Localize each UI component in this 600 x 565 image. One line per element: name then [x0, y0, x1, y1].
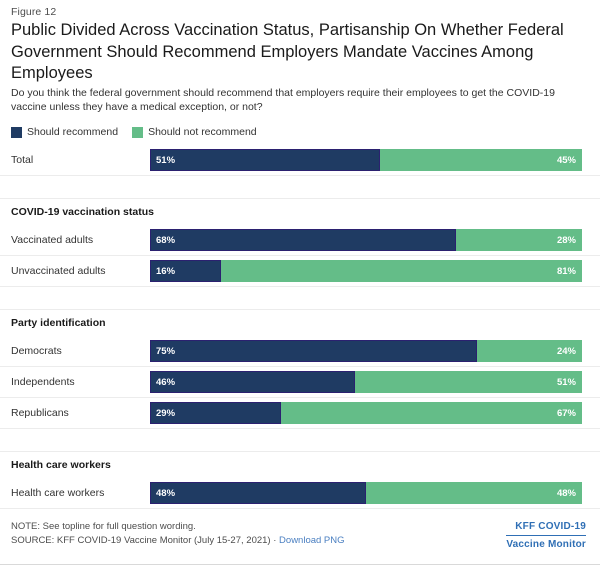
legend-item-should-recommend[interactable]: Should recommend: [11, 127, 118, 138]
section-header: Health care workers: [0, 452, 600, 478]
stacked-bar: 75%24%: [150, 340, 582, 362]
section-spacer: [0, 176, 600, 198]
brand-logo[interactable]: KFF COVID-19 Vaccine Monitor: [506, 520, 586, 552]
figure-container: Figure 12 Public Divided Across Vaccinat…: [0, 0, 600, 565]
bar-segment-should-recommend[interactable]: 16%: [150, 260, 221, 282]
bar-segment-should-recommend[interactable]: 48%: [150, 482, 366, 504]
bar-segment-should-recommend[interactable]: 75%: [150, 340, 477, 362]
chart-row: Democrats75%24%: [0, 336, 600, 367]
bar-segment-should-not-recommend[interactable]: 45%: [380, 149, 583, 171]
chart-row-label: Democrats: [11, 345, 62, 357]
footnote-note: NOTE: See topline for full question word…: [11, 520, 345, 534]
chart-legend: Should recommend Should not recommend: [11, 127, 257, 138]
section-header-label: Party identification: [11, 317, 106, 329]
chart-row: Independents46%51%: [0, 367, 600, 398]
brand-line-2: Vaccine Monitor: [506, 536, 586, 552]
chart-row: Total51%45%: [0, 145, 600, 176]
section-spacer: [0, 429, 600, 451]
legend-label-should-not-recommend: Should not recommend: [148, 127, 257, 138]
section-spacer: [0, 287, 600, 309]
stacked-bar: 48%48%: [150, 482, 582, 504]
chart-row-label: Independents: [11, 376, 75, 388]
page-title: Public Divided Across Vaccination Status…: [11, 20, 586, 85]
bar-segment-should-not-recommend[interactable]: 28%: [456, 229, 582, 251]
section-header: Party identification: [0, 310, 600, 336]
bar-segment-should-not-recommend[interactable]: 24%: [477, 340, 582, 362]
bar-segment-should-recommend[interactable]: 68%: [150, 229, 456, 251]
chart-row-label: Republicans: [11, 407, 69, 419]
section-header-label: Health care workers: [11, 459, 111, 471]
legend-label-should-recommend: Should recommend: [27, 127, 118, 138]
chart-row: Unvaccinated adults16%81%: [0, 256, 600, 287]
chart-row: Health care workers48%48%: [0, 478, 600, 509]
chart-row-label: Unvaccinated adults: [11, 265, 106, 277]
section-header: COVID-19 vaccination status: [0, 199, 600, 225]
brand-line-1: KFF COVID-19: [506, 520, 586, 536]
bar-segment-should-recommend[interactable]: 29%: [150, 402, 281, 424]
stacked-bar: 16%81%: [150, 260, 582, 282]
bar-segment-should-not-recommend[interactable]: 67%: [281, 402, 582, 424]
stacked-bar: 29%67%: [150, 402, 582, 424]
chart-plot-area: Total51%45%COVID-19 vaccination statusVa…: [0, 145, 600, 509]
bar-segment-should-recommend[interactable]: 51%: [150, 149, 380, 171]
bar-segment-should-not-recommend[interactable]: 51%: [355, 371, 582, 393]
chart-row-label: Health care workers: [11, 487, 104, 499]
chart-row-label: Vaccinated adults: [11, 234, 93, 246]
stacked-bar: 46%51%: [150, 371, 582, 393]
bar-segment-should-recommend[interactable]: 46%: [150, 371, 355, 393]
download-png-link[interactable]: Download PNG: [279, 535, 344, 546]
footnote-source: SOURCE: KFF COVID-19 Vaccine Monitor (Ju…: [11, 534, 345, 548]
stacked-bar: 51%45%: [150, 149, 582, 171]
legend-swatch-icon-should-recommend: [11, 127, 22, 138]
chart-row: Vaccinated adults68%28%: [0, 225, 600, 256]
stacked-bar: 68%28%: [150, 229, 582, 251]
footnote-source-text: SOURCE: KFF COVID-19 Vaccine Monitor (Ju…: [11, 535, 271, 546]
chart-subtitle: Do you think the federal government shou…: [11, 86, 583, 114]
footnote-separator: ·: [273, 535, 276, 546]
section-header-label: COVID-19 vaccination status: [11, 206, 154, 218]
legend-item-should-not-recommend[interactable]: Should not recommend: [132, 127, 257, 138]
figure-footer: NOTE: See topline for full question word…: [0, 520, 600, 556]
bar-segment-should-not-recommend[interactable]: 81%: [221, 260, 582, 282]
legend-swatch-icon-should-not-recommend: [132, 127, 143, 138]
footnote-block: NOTE: See topline for full question word…: [11, 520, 345, 547]
chart-row-label: Total: [11, 154, 33, 166]
chart-row: Republicans29%67%: [0, 398, 600, 429]
bar-segment-should-not-recommend[interactable]: 48%: [366, 482, 582, 504]
figure-number: Figure 12: [11, 6, 56, 18]
